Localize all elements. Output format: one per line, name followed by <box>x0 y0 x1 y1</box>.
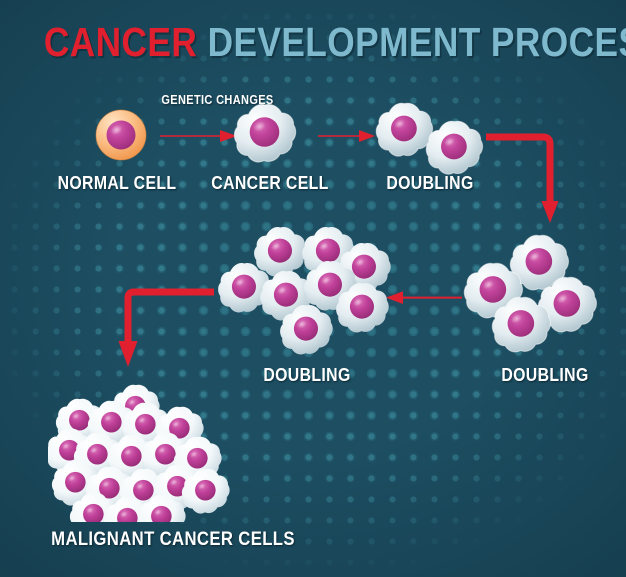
label-doubling-right: DOUBLING <box>488 365 602 386</box>
arrow-normal-to-cancer <box>160 126 238 146</box>
label-malignant-cancer-cells: MALIGNANT CANCER CELLS <box>45 529 300 551</box>
doubling-eight-cells-cluster <box>216 224 394 363</box>
malignant-cancer-cells-mass <box>48 382 244 527</box>
title-cancer: CANCER <box>44 19 197 65</box>
normal-cell-graphic <box>92 106 150 164</box>
label-doubling-top: DOUBLING <box>355 173 505 194</box>
infographic-canvas: CANCERDEVELOPMENT PROCESS <box>0 0 626 577</box>
page-title: CANCERDEVELOPMENT PROCESS <box>44 22 582 63</box>
arrow-doubling-to-four <box>486 127 576 227</box>
arrow-cancer-to-doubling <box>318 126 376 146</box>
doubling-four-cells-cluster <box>462 232 602 365</box>
arrow-four-to-eight <box>386 288 462 308</box>
label-cancer-cell: CANCER CELL <box>186 173 353 194</box>
arrow-eight-to-malignant <box>110 287 216 371</box>
title-development-process: DEVELOPMENT PROCESS <box>208 19 626 65</box>
label-normal-cell: NORMAL CELL <box>33 173 200 194</box>
cancer-cell-graphic <box>232 101 298 167</box>
label-doubling-center: DOUBLING <box>237 365 378 386</box>
doubling-two-cells-cluster <box>372 100 492 183</box>
